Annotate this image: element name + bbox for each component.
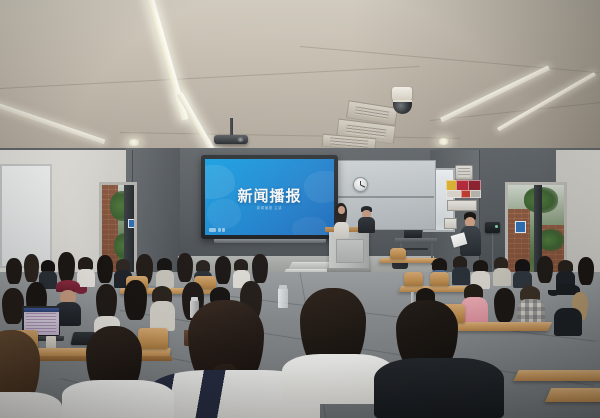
classroom-photo: 新闻播报 新闻播报 主讲 [0, 0, 600, 418]
clock-minute-hand [360, 185, 365, 188]
panel-subtitle-text: 新闻播报 主讲 [205, 205, 334, 210]
panel-taskbar[interactable] [209, 228, 225, 232]
camera-dome-lens [393, 100, 412, 114]
presenter-face [338, 206, 345, 214]
panel-title-text: 新闻播报 [205, 185, 334, 206]
presenter2-torso [358, 217, 375, 233]
wall-sign-cluster [446, 180, 480, 196]
card-reader-led [495, 225, 498, 228]
wall-notice-plate-small [444, 218, 457, 229]
board-chalk-rail [322, 196, 434, 198]
desk-row-front-right-2 [513, 370, 600, 381]
ceiling-projector [214, 118, 248, 142]
projector-mount-pole [230, 118, 233, 135]
wall-speaker [455, 165, 473, 180]
panel-screen[interactable]: 新闻播报 新闻播报 主讲 [205, 159, 334, 235]
taskbar-chip-2[interactable] [218, 228, 221, 232]
camera-housing [392, 87, 412, 100]
desk-corner-right [545, 388, 600, 402]
downlight-left [127, 139, 141, 146]
dome-security-camera [392, 87, 412, 114]
exit-direction-sign-left [128, 219, 136, 228]
wall-notice-plate [447, 200, 477, 211]
projector-lens [237, 137, 244, 142]
wall-sign-pale [446, 190, 462, 198]
water-bottle-2 [278, 288, 288, 308]
exit-direction-sign-right [515, 221, 526, 233]
taskbar-chip-1[interactable] [209, 228, 216, 232]
light-fixture-left [0, 100, 105, 144]
wall-sign-grey [470, 190, 481, 198]
wall-clock [353, 177, 368, 192]
access-card-reader[interactable] [485, 222, 500, 233]
chairback-front-left-b [138, 328, 168, 349]
ceiling [0, 0, 600, 152]
interactive-flat-panel[interactable]: 新闻播报 新闻播报 主讲 [201, 155, 338, 239]
maroon-cap-brim [75, 287, 87, 294]
taskbar-chip-3[interactable] [222, 228, 225, 232]
downlight-right [437, 138, 450, 145]
